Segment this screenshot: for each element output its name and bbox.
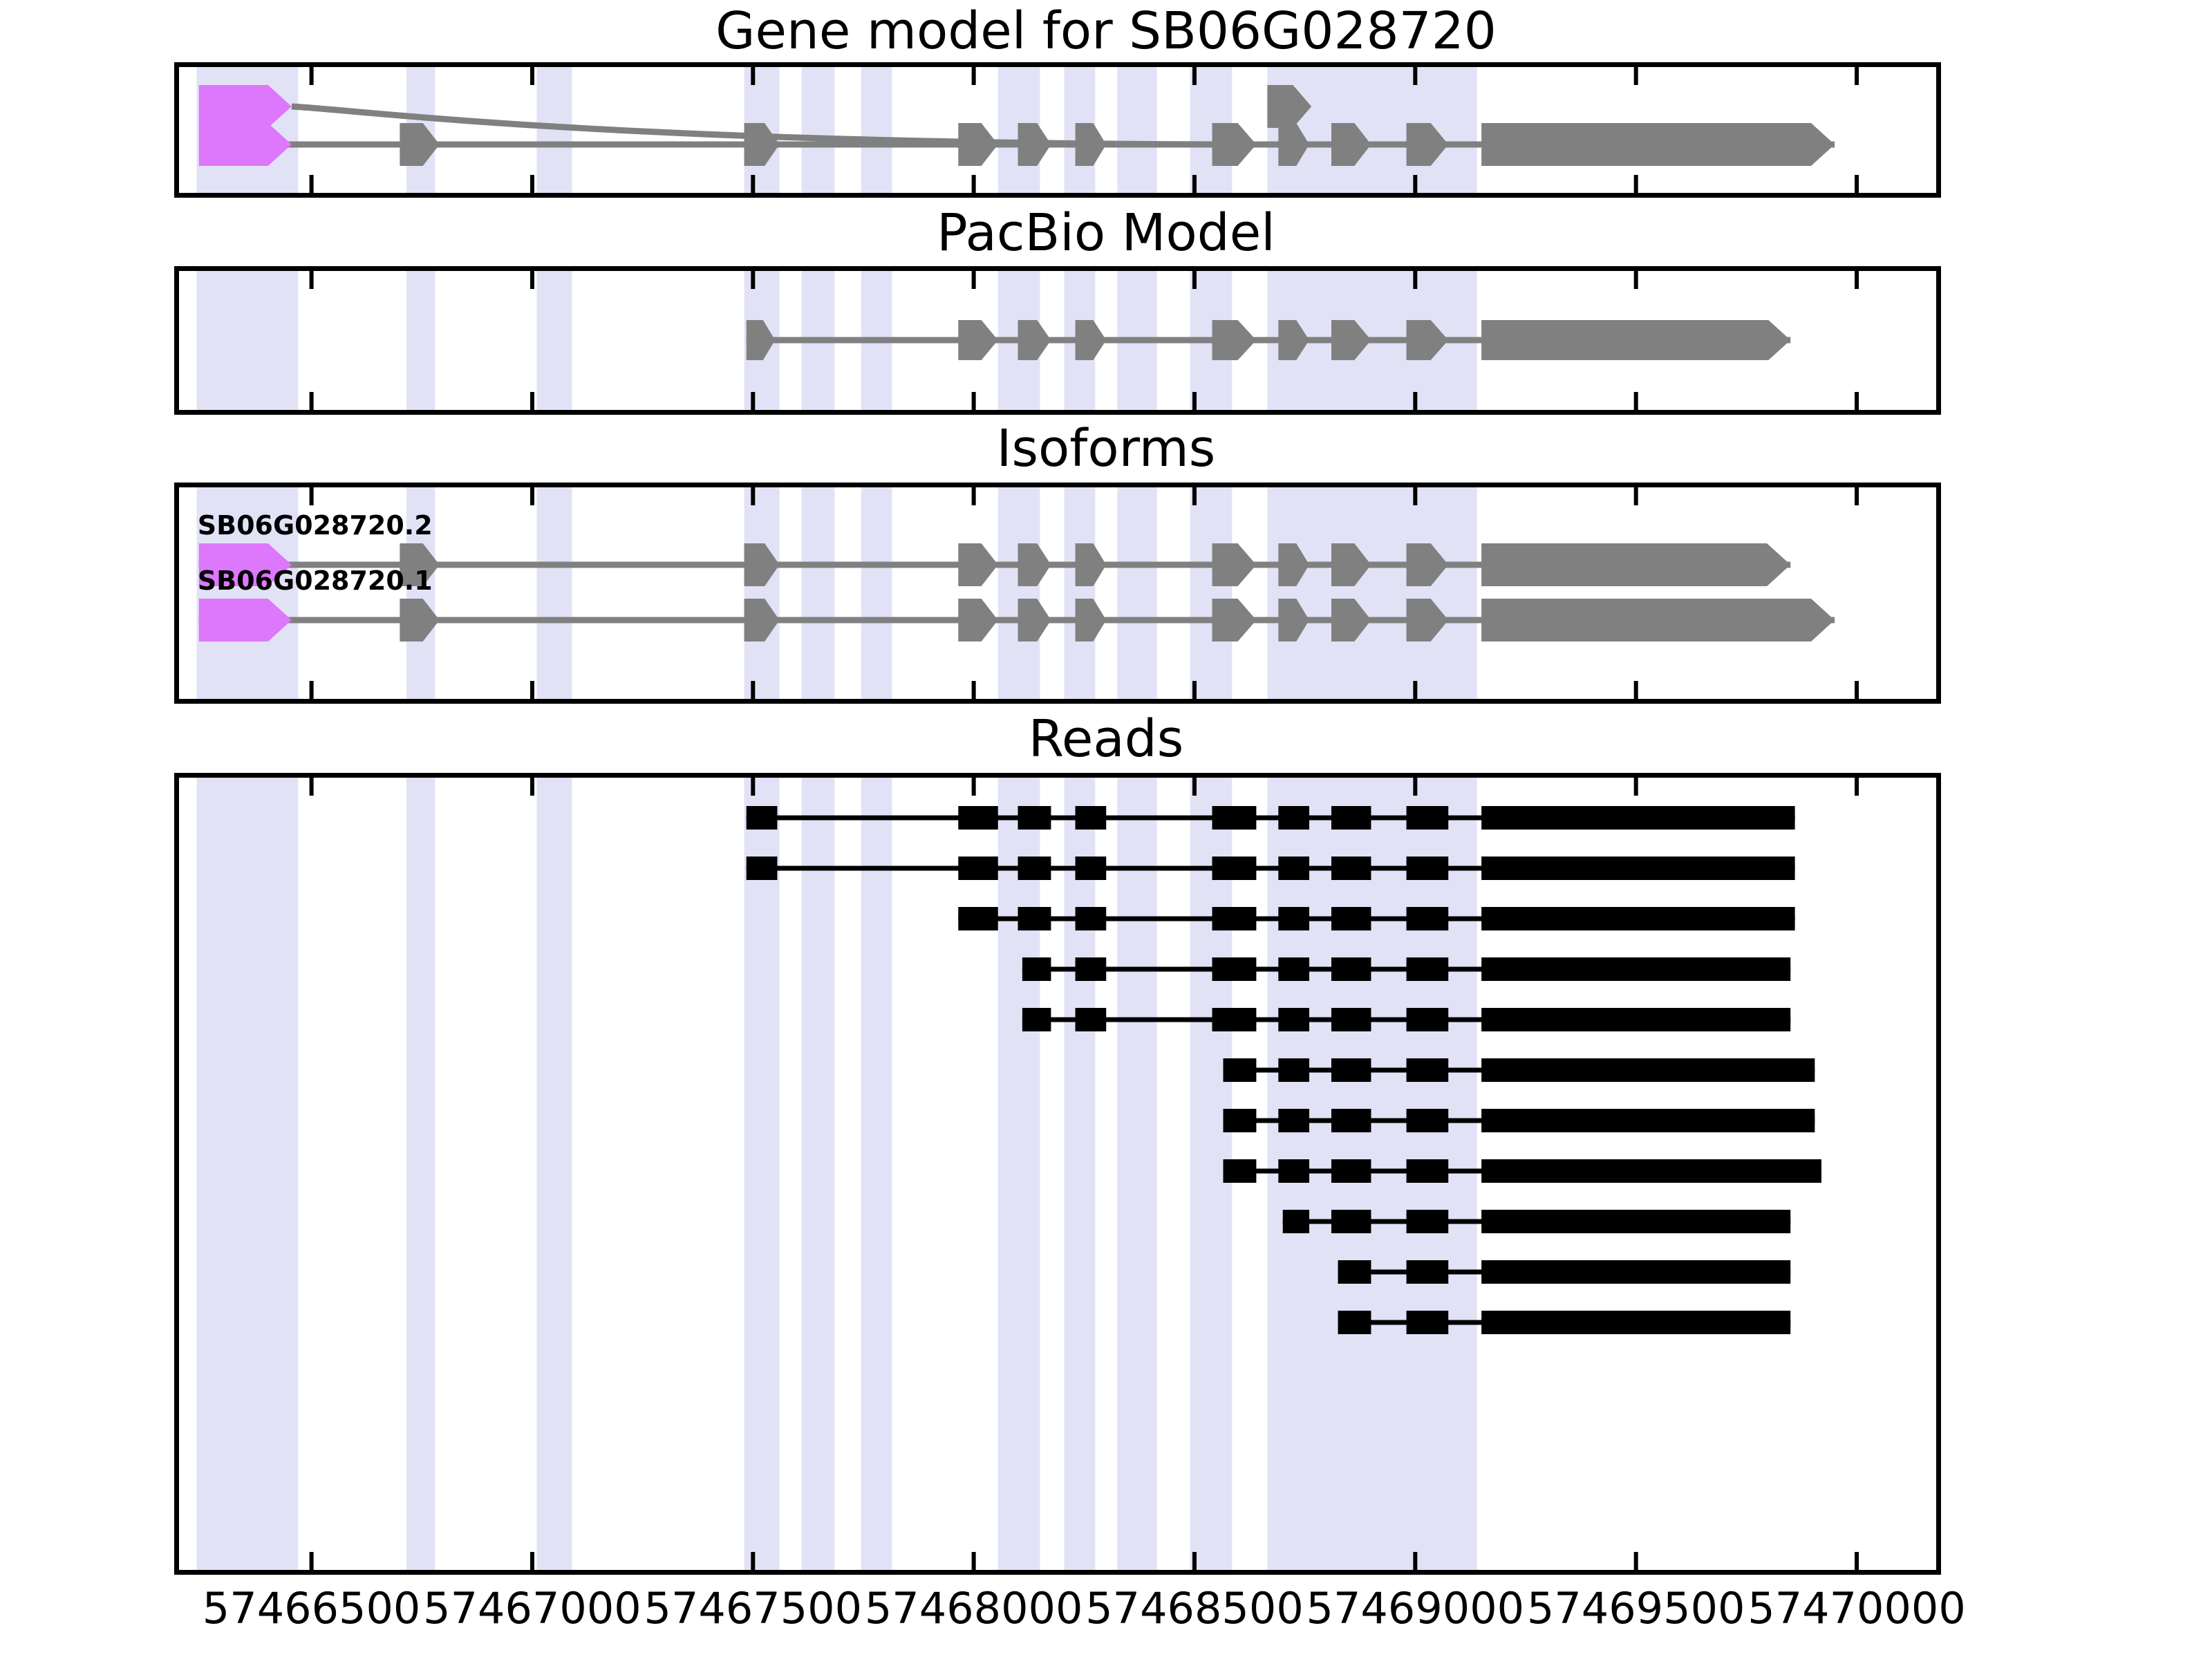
cds-exon xyxy=(1076,599,1107,642)
axis-tick-label: 57467000 xyxy=(423,1583,641,1634)
isoform-label: SB06G028720.2 xyxy=(198,510,433,541)
read-block xyxy=(1331,1058,1371,1082)
read-block xyxy=(1278,1109,1309,1132)
highlight-band xyxy=(1065,778,1096,1570)
read-block xyxy=(1212,857,1257,880)
axis-tick-label: 57466500 xyxy=(203,1583,421,1634)
read-block xyxy=(747,806,778,830)
cds-exon xyxy=(1018,123,1051,166)
isoform-label: SB06G028720.1 xyxy=(198,565,433,596)
read-block xyxy=(747,857,778,880)
cds-exon xyxy=(958,123,997,166)
read-block xyxy=(1407,1260,1449,1284)
read-block xyxy=(1481,1159,1821,1183)
read-block xyxy=(1212,957,1257,981)
read-block xyxy=(1018,806,1051,830)
read-block xyxy=(1022,1008,1051,1031)
highlight-band xyxy=(802,778,835,1570)
cds-exon xyxy=(1212,543,1257,586)
read-block xyxy=(1481,1260,1790,1284)
panel-title-gene-model: Gene model for SB06G028720 xyxy=(0,6,2212,57)
cds-exon xyxy=(1018,599,1051,642)
cds-exon xyxy=(1212,123,1257,166)
panel-isoforms: SB06G028720.2SB06G028720.1 xyxy=(174,483,1941,704)
highlight-band xyxy=(536,778,572,1570)
highlight-band xyxy=(861,778,892,1570)
read-block xyxy=(1224,1159,1257,1183)
axis-tick-label: 57468500 xyxy=(1085,1583,1304,1634)
read-block xyxy=(958,806,997,830)
highlight-band xyxy=(197,271,299,410)
highlight-band xyxy=(802,487,835,699)
highlight-band xyxy=(1065,487,1096,699)
read-block xyxy=(1331,957,1371,981)
read-block xyxy=(1076,806,1107,830)
read-block xyxy=(1338,1311,1371,1334)
read-block xyxy=(1283,1210,1309,1233)
read-block xyxy=(1407,1109,1449,1132)
highlight-band xyxy=(197,778,299,1570)
read-block xyxy=(1331,1109,1371,1132)
read-block xyxy=(1331,806,1371,830)
read-block xyxy=(1407,1058,1449,1082)
read-block xyxy=(1212,806,1257,830)
highlight-band xyxy=(998,487,1040,699)
highlight-band xyxy=(406,271,435,410)
panel-title-reads: Reads xyxy=(0,713,2212,765)
read-block xyxy=(1278,957,1309,981)
read-block xyxy=(1407,957,1449,981)
read-block xyxy=(958,857,997,880)
read-block xyxy=(1407,1008,1449,1031)
read-block xyxy=(1212,1008,1257,1031)
read-block xyxy=(1076,857,1107,880)
read-block xyxy=(1076,1008,1107,1031)
read-block xyxy=(1407,1210,1449,1233)
read-block xyxy=(1278,857,1309,880)
read-block xyxy=(1481,857,1794,880)
read-block xyxy=(1407,806,1449,830)
axis-tick-label: 57469000 xyxy=(1306,1583,1525,1634)
highlight-band xyxy=(998,778,1040,1570)
cds-exon xyxy=(1212,599,1257,642)
cds-exon xyxy=(1481,320,1790,360)
highlight-band xyxy=(861,67,892,193)
cds-exon xyxy=(1076,123,1107,166)
read-block xyxy=(1331,857,1371,880)
read-block xyxy=(1224,1058,1257,1082)
read-block xyxy=(1407,857,1449,880)
read-block xyxy=(1022,957,1051,981)
read-block xyxy=(1076,957,1107,981)
read-block xyxy=(1076,907,1107,930)
axis-tick-label: 57468000 xyxy=(865,1583,1083,1634)
highlight-band xyxy=(1117,778,1156,1570)
highlight-band xyxy=(1117,67,1156,193)
cds-exon xyxy=(958,543,997,586)
read-block xyxy=(1407,1311,1449,1334)
figure-root: Gene model for SB06G028720 PacBio Model … xyxy=(0,0,2212,1659)
panel-gene-model xyxy=(174,62,1941,198)
read-block xyxy=(1481,1008,1790,1031)
read-block xyxy=(1481,806,1794,830)
cds-exon xyxy=(958,599,997,642)
read-block xyxy=(1331,1008,1371,1031)
panel-pacbio-model xyxy=(174,266,1941,415)
panel-title-pacbio-model: PacBio Model xyxy=(0,207,2212,259)
read-block xyxy=(1331,1159,1371,1183)
read-block xyxy=(1481,1058,1815,1082)
read-block xyxy=(1018,857,1051,880)
cds-exon xyxy=(1212,320,1257,360)
cds-exon xyxy=(1481,543,1790,586)
highlight-band xyxy=(1267,487,1477,699)
highlight-band xyxy=(536,271,572,410)
read-block xyxy=(1278,806,1309,830)
highlight-band xyxy=(861,487,892,699)
read-block xyxy=(1278,1159,1309,1183)
highlight-band xyxy=(802,67,835,193)
highlight-band xyxy=(1117,487,1156,699)
highlight-band xyxy=(744,778,780,1570)
read-block xyxy=(1212,907,1257,930)
cds-exon xyxy=(1018,320,1051,360)
axis-tick-label: 57467500 xyxy=(644,1583,863,1634)
read-block xyxy=(1481,957,1790,981)
read-block xyxy=(1278,907,1309,930)
read-block xyxy=(1018,907,1051,930)
highlight-band xyxy=(1190,487,1232,699)
read-block xyxy=(1481,1109,1815,1132)
read-block xyxy=(1331,907,1371,930)
cds-exon xyxy=(958,320,997,360)
read-block xyxy=(1331,1210,1371,1233)
cds-exon xyxy=(1018,543,1051,586)
cds-exon xyxy=(1481,599,1835,642)
cds-exon xyxy=(1076,320,1107,360)
read-block xyxy=(1338,1260,1371,1284)
panel-title-isoforms: Isoforms xyxy=(0,423,2212,474)
axis-tick-label: 57469500 xyxy=(1527,1583,1745,1634)
read-block xyxy=(1407,1159,1449,1183)
highlight-band xyxy=(536,487,572,699)
read-block xyxy=(1481,1311,1790,1334)
read-block xyxy=(1481,1210,1790,1233)
read-block xyxy=(1224,1109,1257,1132)
cds-exon xyxy=(1076,543,1107,586)
x-axis-tick-labels: 5746650057467000574675005746800057468500… xyxy=(0,1583,2212,1666)
panel-reads xyxy=(174,773,1941,1575)
cds-exon xyxy=(1481,123,1835,166)
axis-tick-label: 57470000 xyxy=(1747,1583,1966,1634)
highlight-band xyxy=(744,487,780,699)
highlight-band xyxy=(406,778,435,1570)
read-block xyxy=(1407,907,1449,930)
read-block xyxy=(1278,1008,1309,1031)
read-block xyxy=(1278,1058,1309,1082)
read-block xyxy=(958,907,997,930)
read-block xyxy=(1481,907,1794,930)
